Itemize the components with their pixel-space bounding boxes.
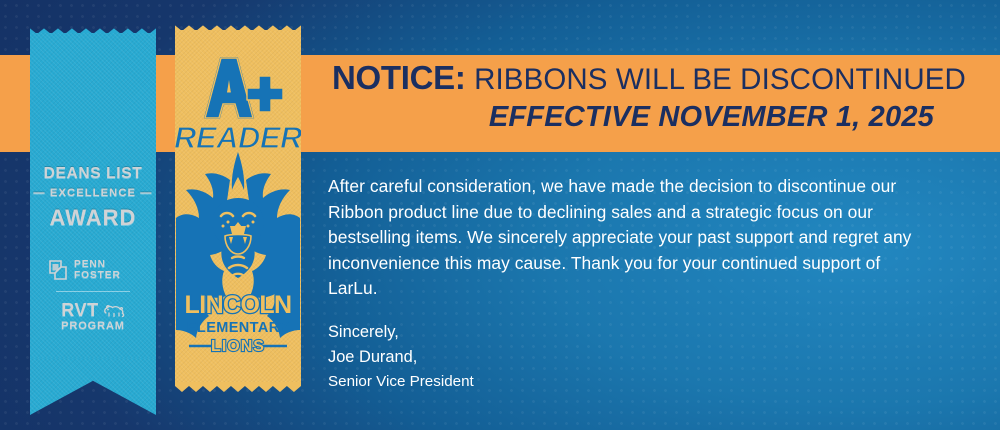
- signature-block: Sincerely, Joe Durand, Senior Vice Presi…: [328, 320, 474, 393]
- ribbon-tail-texture: [30, 358, 156, 415]
- headline-effective-date: EFFECTIVE NOVEMBER 1, 2025: [332, 102, 982, 133]
- school-line-3: LIONS: [211, 338, 265, 355]
- deans-list-award-word: AWARD: [30, 205, 156, 231]
- signature-closing: Sincerely,: [328, 320, 474, 345]
- headline: NOTICE: RIBBONS WILL BE DISCONTINUED EFF…: [332, 61, 982, 133]
- signature-role: Senior Vice President: [328, 370, 474, 393]
- penn-foster-logo: PENN FOSTER: [48, 257, 140, 283]
- headline-main-text: RIBBONS WILL BE DISCONTINUED: [474, 63, 966, 96]
- penn-foster-line-1: PENN: [74, 259, 121, 270]
- rvt-program-logo: RVT PROGRAM: [44, 300, 142, 332]
- school-line-1: LINCOLN: [185, 291, 292, 319]
- body-copy: After careful consideration, we have mad…: [328, 174, 928, 302]
- deans-list-subtitle: — EXCELLENCE —: [30, 187, 156, 199]
- svg-text:READER: READER: [175, 120, 301, 155]
- headline-line-1: NOTICE: RIBBONS WILL BE DISCONTINUED: [332, 61, 982, 96]
- ribbon-swallowtail-bottom: [30, 358, 156, 415]
- dog-icon: [103, 303, 125, 318]
- rvt-wordmark: RVT: [61, 300, 98, 321]
- signature-name: Joe Durand,: [328, 345, 474, 370]
- deans-list-title: DEANS LIST: [30, 165, 156, 183]
- penn-foster-wordmark: PENN FOSTER: [74, 259, 121, 282]
- penn-foster-line-2: FOSTER: [74, 270, 121, 281]
- a-plus-reader-ribbon: READER: [175, 22, 301, 392]
- headline-notice-label: NOTICE:: [332, 59, 466, 96]
- school-name-block: LINCOLN ELEMENTARY LIONS: [185, 291, 292, 355]
- notice-banner: NOTICE: RIBBONS WILL BE DISCONTINUED EFF…: [0, 0, 1000, 430]
- school-line-2: ELEMENTARY: [187, 320, 289, 336]
- rvt-logo-row: RVT: [44, 300, 142, 321]
- a-plus-grade-mark: [205, 58, 283, 118]
- reader-word-mark: READER: [175, 120, 301, 155]
- reader-ribbon-zigzag-bottom-edge: [175, 382, 301, 392]
- rvt-program-sublabel: PROGRAM: [44, 320, 142, 332]
- body-paragraph: After careful consideration, we have mad…: [328, 174, 928, 302]
- deans-list-award-ribbon: DEANS LIST — EXCELLENCE — AWARD PENN FOS…: [30, 25, 156, 391]
- penn-foster-book-icon: [48, 259, 68, 281]
- reader-ribbon-artwork: READER: [175, 30, 301, 382]
- ribbon-divider-rule: [56, 291, 130, 292]
